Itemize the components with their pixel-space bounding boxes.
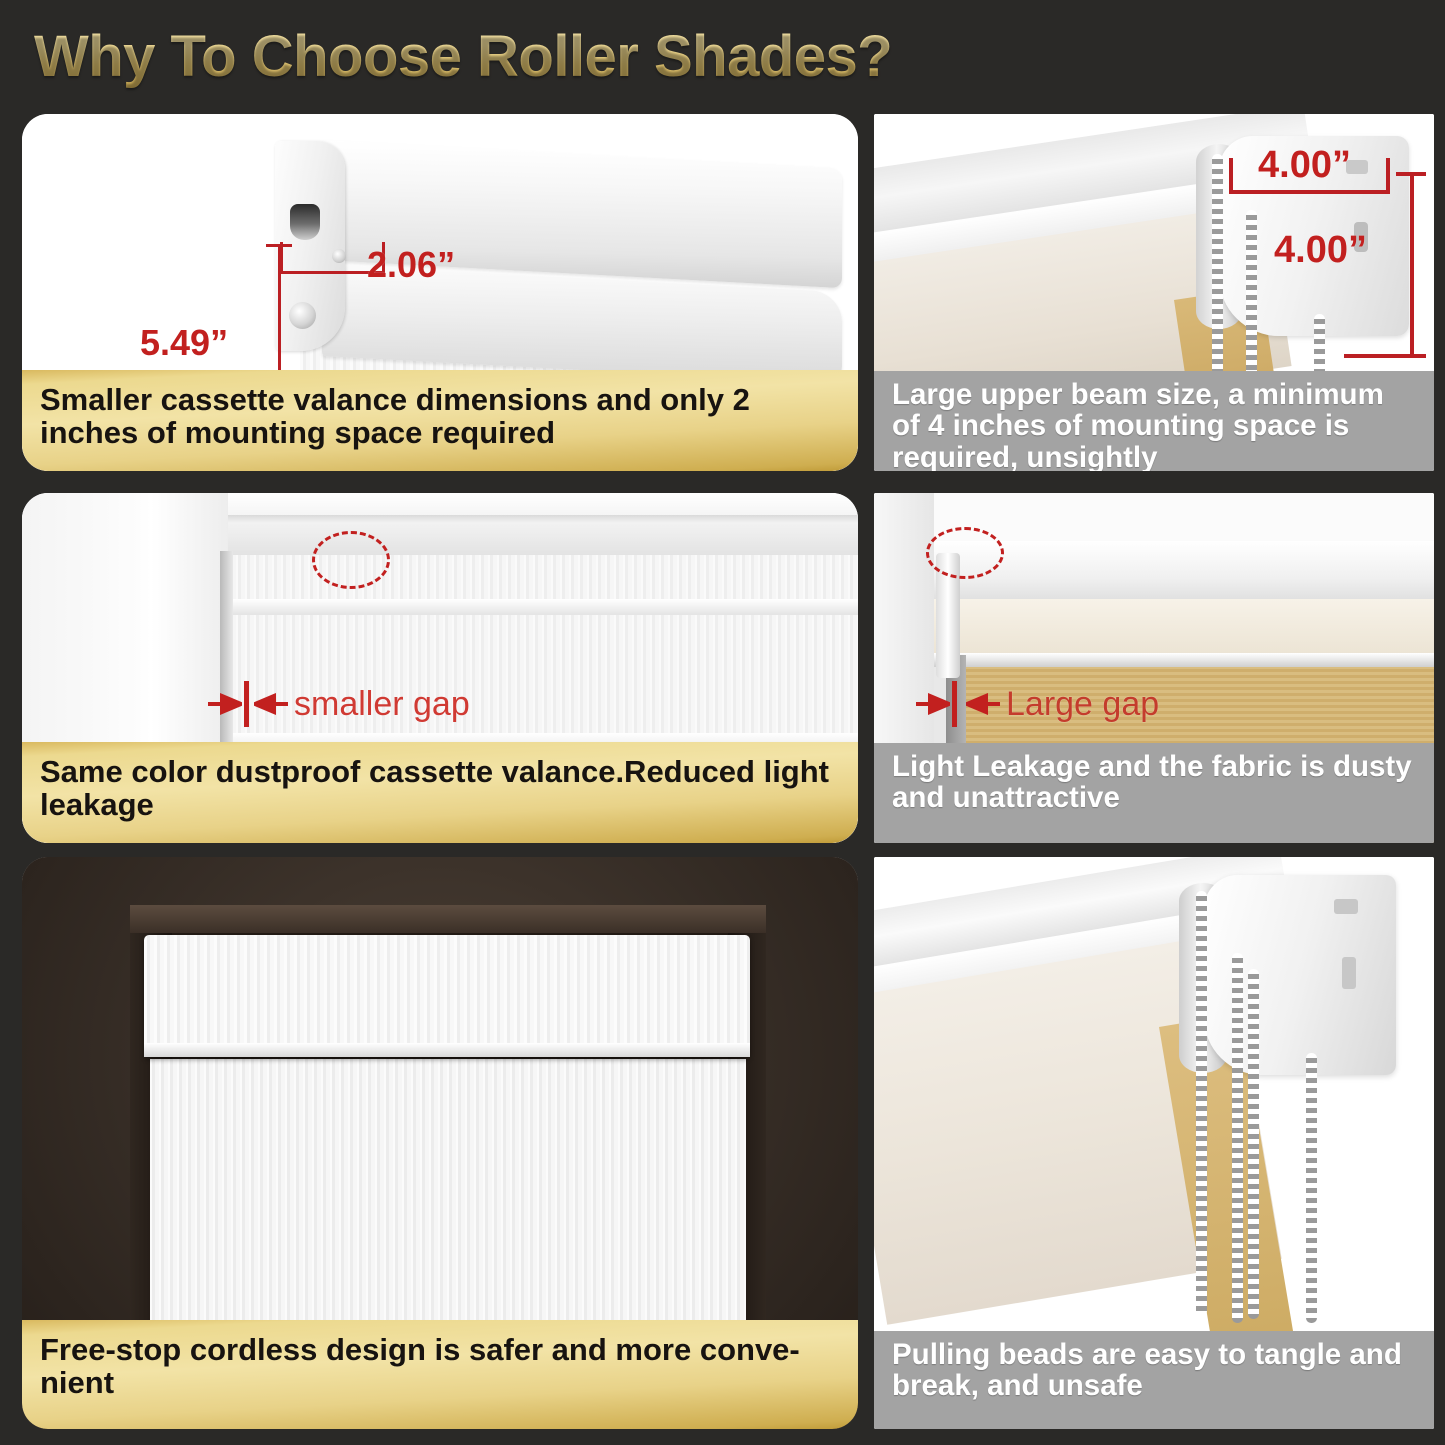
bracket-tab-upper (1334, 899, 1358, 914)
upper-beam (932, 541, 1434, 603)
infographic-page: Why To Choose Roller Shades? 2.06” 5.49”… (0, 0, 1445, 1445)
beam-height-dim-line (1410, 172, 1414, 357)
shade-band-upper (227, 599, 858, 615)
beam-bottom-lip (932, 653, 1434, 667)
panel-light-leakage: Large gap Light Leakage and the fabric i… (874, 493, 1434, 843)
bracket-tab-lower (1342, 957, 1356, 989)
caption-large-upper-beam: Large upper beam size, a minimum of 4 in… (874, 371, 1434, 471)
gap-arrow-left-icon (916, 693, 950, 715)
cassette-valance (144, 935, 750, 1057)
beam-height-tick-top (1396, 172, 1426, 176)
beam-height-label: 4.00” (1274, 229, 1367, 272)
caption-pulling-beads: Pulling beads are easy to tangle and bre… (874, 1331, 1434, 1429)
header-bar: Why To Choose Roller Shades? (0, 0, 1445, 112)
panel-dustproof-cassette-valance: smaller gap Same color dustproof cassett… (22, 493, 858, 843)
roller-shade-fabric (150, 1059, 746, 1344)
caption-light-leakage: Light Leakage and the fabric is dusty an… (874, 743, 1434, 843)
bead-chain-1 (1196, 891, 1207, 1316)
caption-free-stop-cordless: Free-stop cordless design is safer and m… (22, 1320, 858, 1429)
bead-chain-4 (1306, 1053, 1317, 1323)
caption-dustproof-cassette-valance: Same color dustproof cassette valance.Re… (22, 742, 858, 843)
width-dimension-label: 2.06” (367, 244, 455, 286)
valance-screw-lower (289, 302, 316, 329)
window-frame-top (118, 493, 858, 555)
valance-screw-upper (332, 249, 346, 263)
page-title: Why To Choose Roller Shades? (34, 23, 892, 90)
bead-chain-3 (1248, 969, 1259, 1319)
panel-free-stop-cordless: Free-stop cordless design is safer and m… (22, 857, 858, 1429)
panel-large-upper-beam: 4.00” 4.00” Large upper beam size, a min… (874, 114, 1434, 471)
valance-bottom-edge (144, 1043, 750, 1057)
panel-cassette-valance-dimensions: 2.06” 5.49” Smaller cassette valance dim… (22, 114, 858, 471)
dashed-circle-highlight (926, 527, 1004, 579)
gap-arrow-left-icon (208, 693, 242, 715)
bead-chain-2 (1232, 953, 1243, 1323)
height-dim-tick-top (266, 244, 292, 247)
gap-marker-bar (952, 681, 957, 727)
beam-width-label: 4.00” (1258, 144, 1351, 187)
gap-arrow-right-icon (966, 693, 1000, 715)
beam-width-dim-line (1229, 190, 1389, 194)
window-lintel (130, 905, 766, 933)
height-dimension-label: 5.49” (140, 322, 228, 364)
panel-pulling-beads: Pulling beads are easy to tangle and bre… (874, 857, 1434, 1429)
gap-marker-bar (244, 681, 249, 727)
window-frame-bevel (207, 515, 858, 523)
smaller-gap-label: smaller gap (294, 685, 470, 724)
bead-chain-1 (1212, 154, 1223, 399)
beam-width-tick-left (1229, 158, 1233, 194)
dashed-circle-highlight (312, 531, 390, 589)
valance-slot (290, 204, 320, 240)
beam-fabric-roll (932, 599, 1434, 655)
large-gap-label: Large gap (1006, 685, 1159, 724)
gap-arrow-right-icon (254, 693, 288, 715)
caption-cassette-valance-dimensions: Smaller cassette valance dimensions and … (22, 370, 858, 471)
beam-width-tick-right (1386, 158, 1390, 194)
beam-height-tick-bottom (1344, 354, 1426, 358)
